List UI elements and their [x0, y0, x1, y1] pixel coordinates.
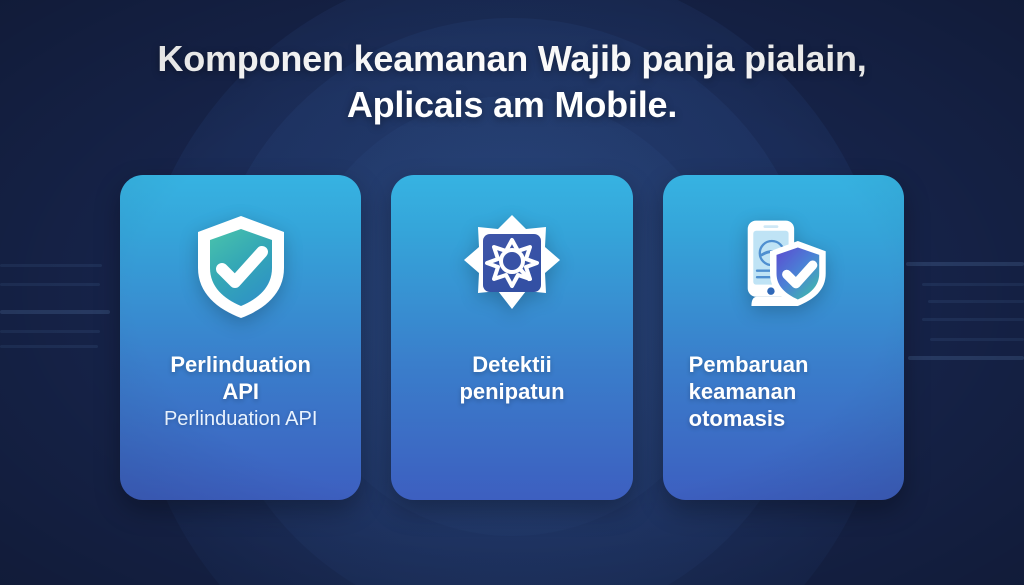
decor-line-left-1 — [0, 264, 102, 267]
feature-card-title-line-1: Pembaruan — [689, 351, 882, 378]
feature-card-title-line-2: API — [142, 378, 339, 405]
shield-check-icon — [189, 215, 293, 319]
slide-canvas: Komponen keamanan Wajib panja pialain, A… — [0, 0, 1024, 585]
feature-card-auto-security-update[interactable]: Pembaruan keamanan otomasis — [663, 175, 904, 500]
page-title: Komponen keamanan Wajib panja pialain, A… — [0, 36, 1024, 128]
page-title-line-2: Aplicais am Mobile. — [90, 82, 934, 128]
feature-card-fraud-detection[interactable]: Detektii penipatun — [391, 175, 632, 500]
feature-card-text: Detektii penipatun — [413, 351, 610, 405]
feature-card-title-line-1: Perlinduation — [142, 351, 339, 378]
fraud-detection-badge-icon — [460, 215, 564, 319]
feature-card-protection-api[interactable]: Perlinduation API Perlinduation API — [120, 175, 361, 500]
decor-line-right-6 — [908, 356, 1024, 360]
feature-card-text: Pembaruan keamanan otomasis — [685, 351, 882, 432]
decor-line-right-2 — [922, 283, 1024, 286]
feature-card-title-line-1: Detektii — [413, 351, 610, 378]
decor-line-left-2 — [0, 283, 100, 286]
feature-card-title-line-2: keamanan — [689, 378, 882, 405]
decor-line-right-1 — [906, 262, 1024, 266]
page-title-line-1: Komponen keamanan Wajib panja pialain, — [90, 36, 934, 82]
feature-card-title-line-2: penipatun — [413, 378, 610, 405]
decor-line-right-4 — [922, 318, 1024, 321]
decor-line-right-5 — [930, 338, 1024, 341]
decor-line-left-5 — [0, 345, 98, 348]
feature-card-text: Perlinduation API Perlinduation API — [142, 351, 339, 432]
feature-card-title-line-3: otomasis — [689, 405, 882, 432]
feature-card-row: Perlinduation API Perlinduation API — [120, 175, 904, 500]
decor-line-left-4 — [0, 330, 100, 333]
phone-shield-update-icon — [731, 215, 835, 319]
feature-card-subtitle: Perlinduation API — [142, 406, 339, 432]
decor-line-right-3 — [928, 300, 1024, 303]
decor-line-left-3 — [0, 310, 110, 314]
